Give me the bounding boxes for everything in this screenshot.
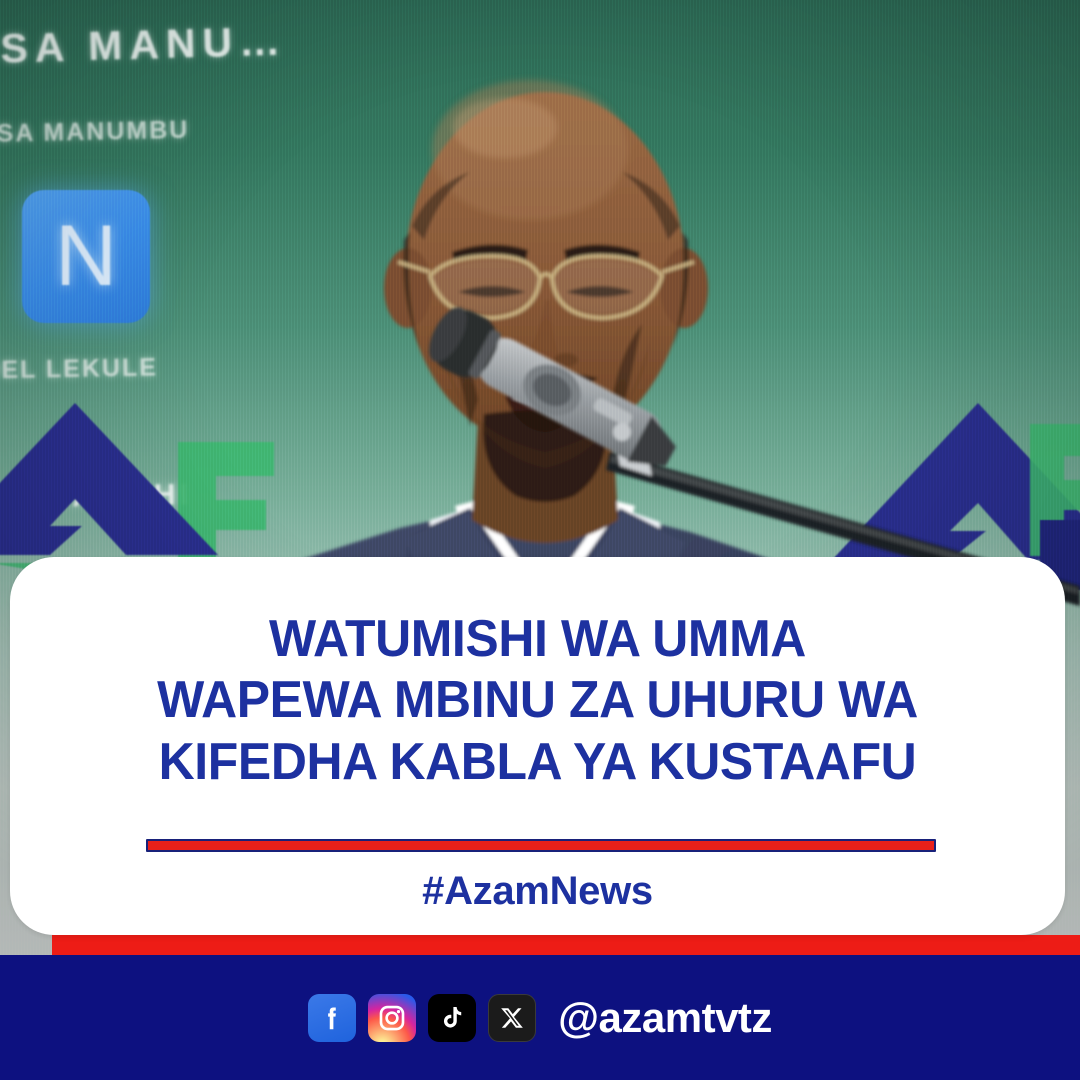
tiktok-icon[interactable] bbox=[428, 994, 476, 1042]
headline: WATUMISHI WA UMMA WAPEWA MBINU ZA UHURU … bbox=[31, 609, 1044, 793]
red-divider-rule bbox=[146, 839, 936, 852]
headline-line-2: WAPEWA MBINU ZA UHURU WA bbox=[79, 670, 996, 731]
facebook-icon[interactable] bbox=[308, 994, 356, 1042]
social-handle[interactable]: @azamtvtz bbox=[558, 994, 772, 1042]
headline-card: WATUMISHI WA UMMA WAPEWA MBINU ZA UHURU … bbox=[10, 557, 1065, 935]
headline-line-1: WATUMISHI WA UMMA bbox=[79, 609, 996, 670]
hashtag-label: #AzamNews bbox=[10, 869, 1065, 914]
news-graphic: SSA MANU… SSA MANUMBU N OEL LEKULE ADIJA… bbox=[0, 0, 1080, 1080]
headline-line-3: KIFEDHA KABLA YA KUSTAAFU bbox=[79, 732, 996, 793]
social-footer-bar: @azamtvtz bbox=[0, 955, 1080, 1080]
x-icon[interactable] bbox=[488, 994, 536, 1042]
instagram-icon[interactable] bbox=[368, 994, 416, 1042]
